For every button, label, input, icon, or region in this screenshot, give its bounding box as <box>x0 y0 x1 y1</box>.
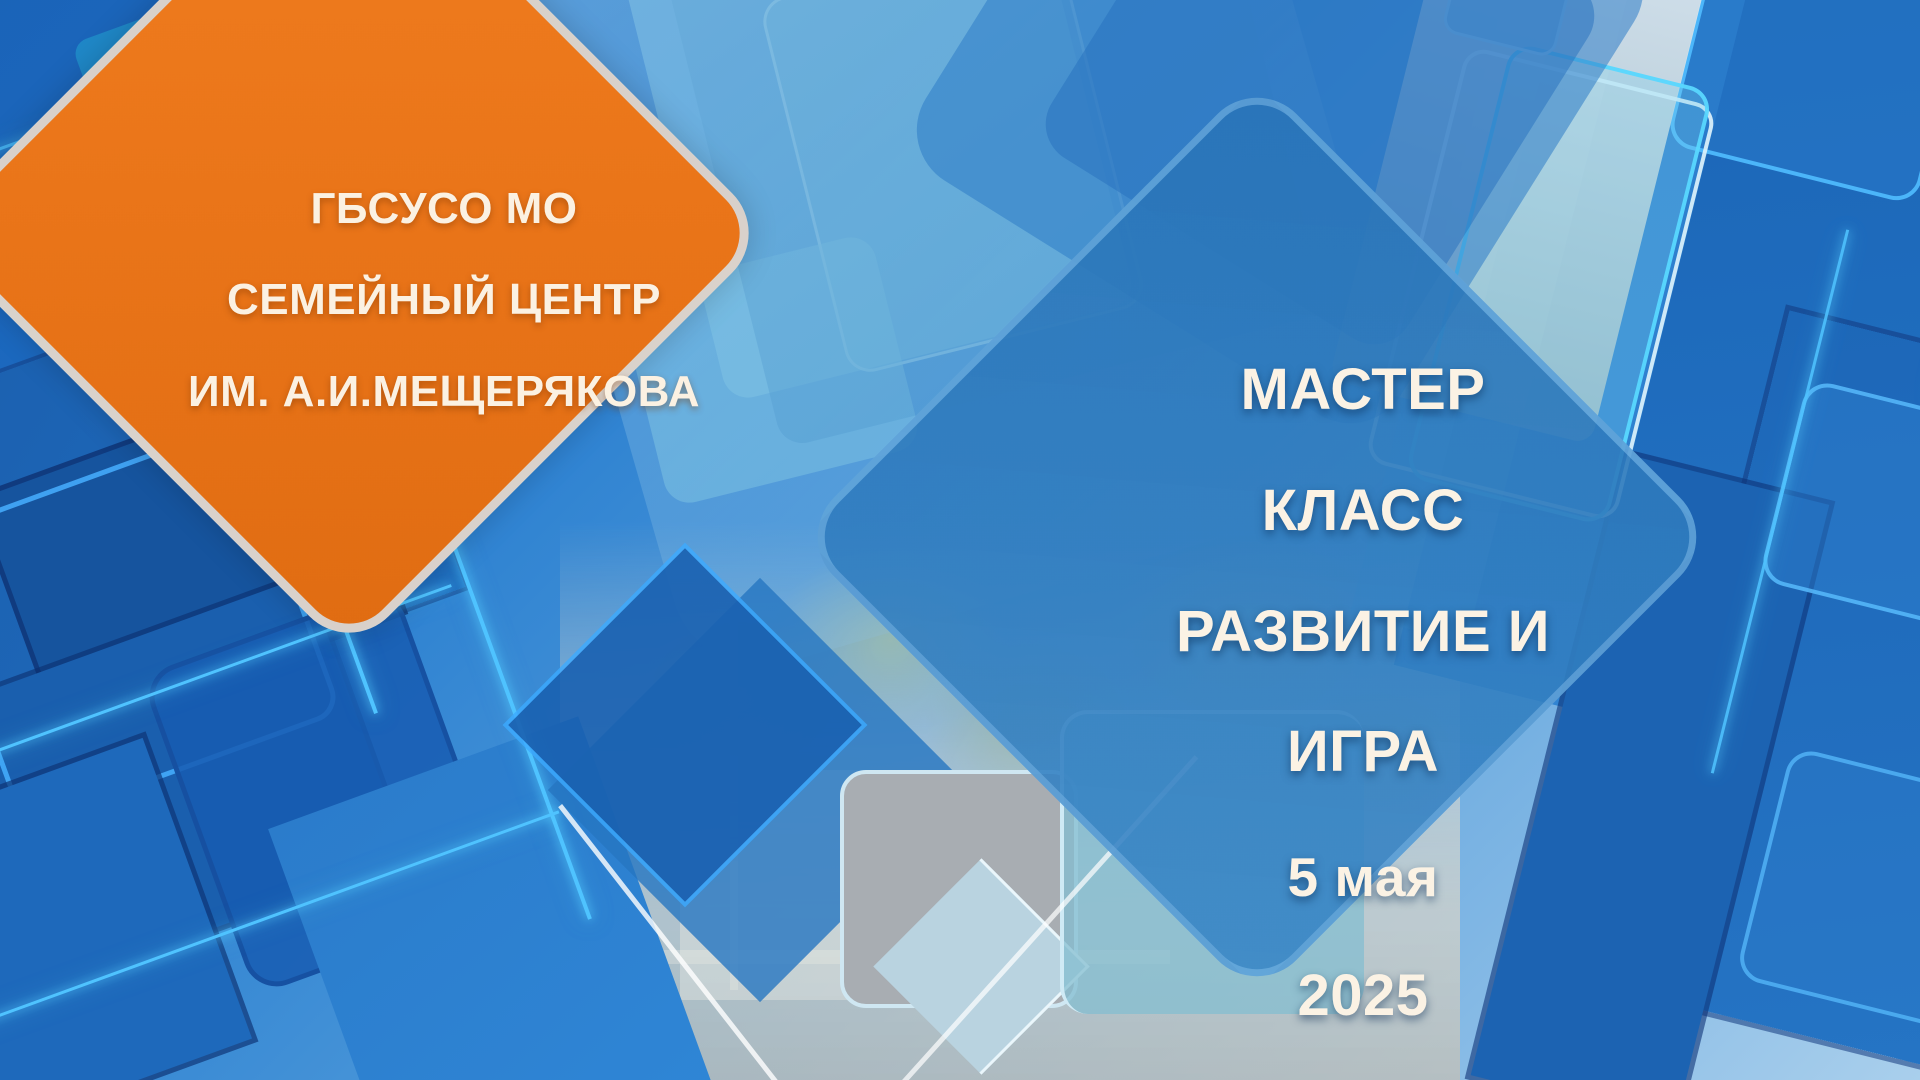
title-slide: ГБСУСО МО СЕМЕЙНЫЙ ЦЕНТР ИМ. А.И.МЕЩЕРЯК… <box>0 0 1920 1080</box>
event-date: 5 мая <box>1128 849 1598 906</box>
event-line-4: ИГРА <box>1128 722 1598 782</box>
organization-line-3: ИМ. А.И.МЕЩЕРЯКОВА <box>188 367 700 416</box>
event-line-1: МАСТЕР <box>1128 360 1598 420</box>
event-line-2: КЛАСС <box>1128 481 1598 541</box>
event-line-3: РАЗВИТИЕ И <box>1128 602 1598 662</box>
organization-name: ГБСУСО МО СЕМЕЙНЫЙ ЦЕНТР ИМ. А.И.МЕЩЕРЯК… <box>94 140 794 415</box>
organization-line-1: ГБСУСО МО <box>310 184 577 233</box>
organization-line-2: СЕМЕЙНЫЙ ЦЕНТР <box>227 275 661 324</box>
event-year: 2025 <box>1128 966 1598 1026</box>
event-title-block: МАСТЕР КЛАСС РАЗВИТИЕ И ИГРА 5 мая 2025 … <box>1128 300 1598 1080</box>
